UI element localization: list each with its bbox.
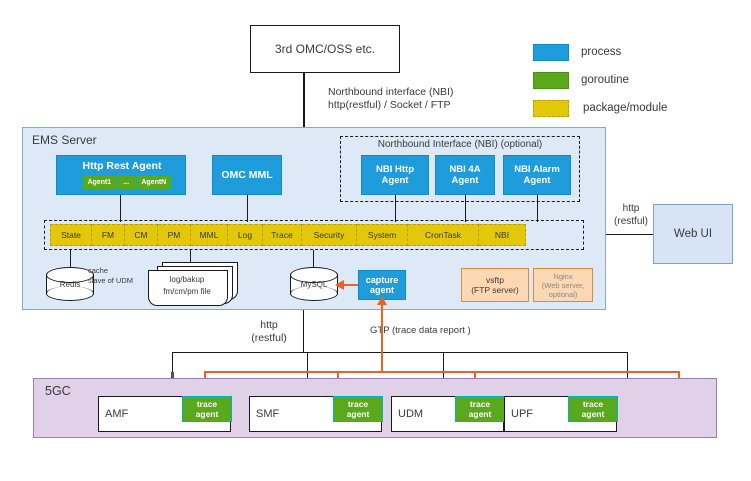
gc-node-udm-label: UDM <box>398 408 423 422</box>
module-state[interactable]: State <box>50 224 92 246</box>
module-cm[interactable]: CM <box>125 224 158 246</box>
http-restful-link-label: http (restful) <box>244 319 294 345</box>
goroutine-agentn[interactable]: AgentN <box>137 175 172 190</box>
vsftp-box: vsftp (FTP server) <box>461 268 529 302</box>
module-mml[interactable]: MML <box>191 224 228 246</box>
connector-nbi-4a-to-modules <box>465 195 466 222</box>
gtp-trunk-horizontal <box>204 371 679 373</box>
gtp-trunk-vertical <box>381 300 383 372</box>
http-rest-agent-title: Http Rest Agent <box>83 160 162 172</box>
nbi-alarm-agent-box[interactable]: NBI Alarm Agent <box>503 155 571 195</box>
web-ui-label: Web UI <box>674 228 712 240</box>
nbi-group-title: Northbound Interface (NBI) (optional) <box>340 139 580 152</box>
legend-label-goroutine: goroutine <box>581 73 629 87</box>
trace-agent-upf[interactable]: trace agent <box>568 396 618 422</box>
connector-modules-to-mysql <box>313 250 314 267</box>
web-ui-link-line1: http <box>608 203 654 216</box>
module-pm[interactable]: PM <box>158 224 191 246</box>
nbi-interface-label-line2: http(restful) / Socket / FTP <box>328 99 538 112</box>
omc-mml-box[interactable]: OMC MML <box>212 155 282 195</box>
module-nbi[interactable]: NBI <box>479 224 526 246</box>
connector-omc-mml-to-modules <box>247 195 248 222</box>
ems-to-gc-trunk-horizontal <box>172 352 628 353</box>
gc-node-amf[interactable]: AMF trace agent <box>98 396 231 432</box>
http-rest-agent-box[interactable]: Http Rest Agent Agent1 ... AgentN <box>56 155 186 195</box>
connector-http-agent-to-modules <box>120 195 121 222</box>
web-ui-box[interactable]: Web UI <box>653 204 733 264</box>
redis-datastore: Redis <box>46 267 94 301</box>
gc-node-upf-label: UPF <box>511 408 533 422</box>
modules-bar: State FM CM PM MML Log Trace Security Sy… <box>50 224 526 246</box>
redis-label: Redis <box>46 267 94 301</box>
legend-label-package: package/module <box>583 101 667 115</box>
web-ui-connector-line <box>606 234 653 235</box>
mysql-label: MySQL <box>290 267 338 301</box>
gc-node-upf[interactable]: UPF trace agent <box>504 396 617 432</box>
nbi-interface-label: Northbound interface (NBI) http(restful)… <box>328 86 538 112</box>
capture-to-mysql-arrow-line <box>343 284 358 286</box>
legend-swatch-goroutine <box>533 72 569 89</box>
gtp-link-label: GTP (trace data report ) <box>370 325 471 337</box>
nginx-box: Nginx (Web server, optional) <box>533 268 593 302</box>
legend-label-process: process <box>581 45 621 59</box>
gc-node-udm[interactable]: UDM trace agent <box>391 396 504 432</box>
gc-node-amf-label: AMF <box>105 408 128 422</box>
file-stack-line1: log/bakup <box>148 274 226 286</box>
file-stack-line2: fm/cm/pm file <box>148 286 226 298</box>
legend: process goroutine package/module <box>533 44 748 119</box>
nbi-4a-agent-box[interactable]: NBI 4A Agent <box>435 155 495 195</box>
gtp-arrow-head-to-capture <box>377 296 387 305</box>
trace-agent-amf[interactable]: trace agent <box>182 396 232 422</box>
module-fm[interactable]: FM <box>92 224 125 246</box>
external-system-box: 3rd OMC/OSS etc. <box>250 25 400 73</box>
nbi-connector-line <box>303 73 305 127</box>
web-ui-link-line2: (restful) <box>608 216 654 229</box>
nbi-http-agent-box[interactable]: NBI Http Agent <box>361 155 429 195</box>
module-system[interactable]: System <box>357 224 408 246</box>
goroutine-ellipsis: ... <box>117 175 137 190</box>
mysql-datastore: MySQL <box>290 267 338 301</box>
log-file-stack: log/bakup fm/cm/pm file <box>148 262 238 306</box>
file-stack-label: log/bakup fm/cm/pm file <box>148 274 226 297</box>
legend-swatch-package <box>533 100 569 117</box>
trace-agent-smf[interactable]: trace agent <box>333 396 383 422</box>
gc-node-smf[interactable]: SMF trace agent <box>249 396 382 432</box>
legend-swatch-process <box>533 44 569 61</box>
goroutine-agent1[interactable]: Agent1 <box>82 175 117 190</box>
ems-to-gc-trunk-vertical <box>303 310 304 353</box>
http-restful-line2: (restful) <box>244 332 294 345</box>
connector-nbi-http-to-modules <box>395 195 396 222</box>
module-crontask[interactable]: CronTask <box>408 224 479 246</box>
module-trace[interactable]: Trace <box>263 224 302 246</box>
gc-node-smf-label: SMF <box>256 408 279 422</box>
connector-modules-to-redis <box>70 250 71 267</box>
nbi-interface-label-line1: Northbound interface (NBI) <box>328 86 538 99</box>
web-ui-link-label: http (restful) <box>608 203 654 228</box>
external-system-label: 3rd OMC/OSS etc. <box>275 42 375 57</box>
gc-title: 5GC <box>45 384 71 400</box>
connector-nbi-alarm-to-modules <box>537 195 538 222</box>
module-log[interactable]: Log <box>228 224 263 246</box>
trace-agent-udm[interactable]: trace agent <box>455 396 505 422</box>
connector-modules-to-files <box>190 250 191 262</box>
module-security[interactable]: Security <box>302 224 357 246</box>
ems-server-title: EMS Server <box>32 133 97 148</box>
omc-mml-label: OMC MML <box>221 169 272 181</box>
http-restful-line1: http <box>244 319 294 332</box>
